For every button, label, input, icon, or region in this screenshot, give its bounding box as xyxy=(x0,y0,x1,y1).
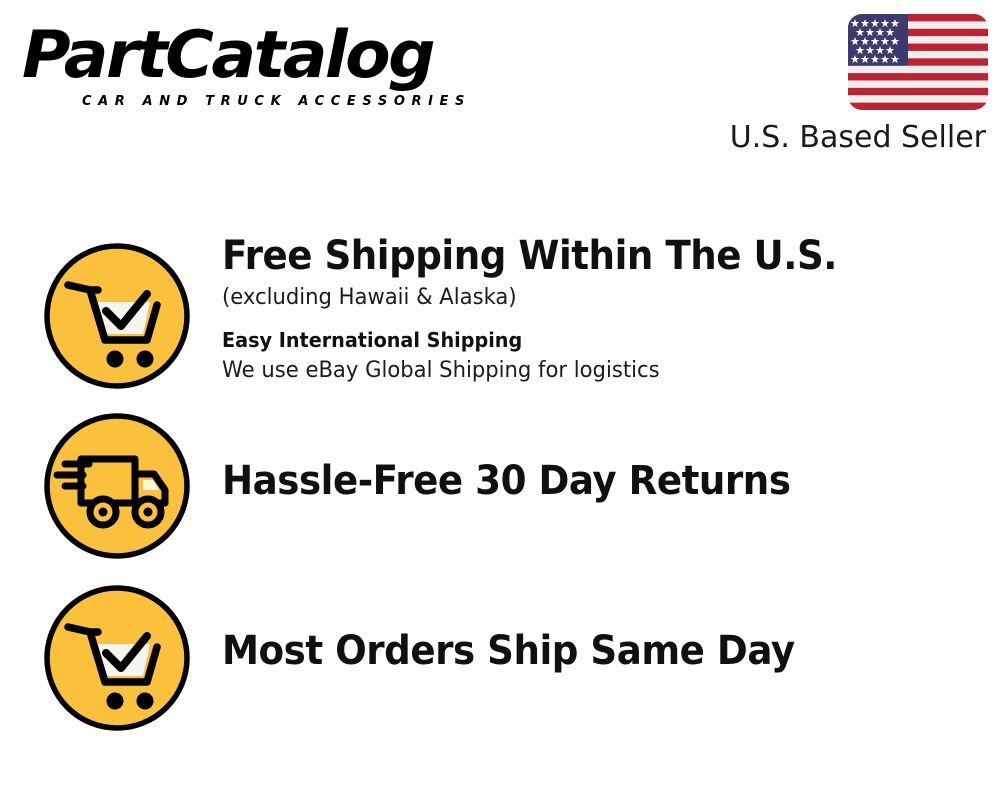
us-based-seller-label: U.S. Based Seller xyxy=(712,121,992,155)
feature-headline: Free Shipping Within The U.S. xyxy=(222,233,929,279)
feature-row: Free Shipping Within The U.S. (excluding… xyxy=(0,228,1000,403)
feature-text-block: Free Shipping Within The U.S. (excluding… xyxy=(222,233,982,386)
us-flag-icon xyxy=(844,8,992,114)
delivery-truck-icon xyxy=(43,412,191,560)
shopping-cart-check-icon xyxy=(43,584,191,732)
feature-note: (excluding Hawaii & Alaska) xyxy=(222,283,952,313)
shopping-cart-check-icon xyxy=(43,242,191,390)
feature-headline: Hassle-Free 30 Day Returns xyxy=(222,458,929,504)
feature-text-block: Hassle-Free 30 Day Returns xyxy=(222,458,982,504)
seller-info-banner: PartCatalog CAR AND TRUCK ACCESSORIES xyxy=(0,0,1000,800)
brand-wordmark: PartCatalog xyxy=(22,22,501,90)
feature-row: Most Orders Ship Same Day xyxy=(0,570,1000,742)
feature-sub-heading: Easy International Shipping xyxy=(222,325,952,355)
feature-headline: Most Orders Ship Same Day xyxy=(222,628,929,674)
us-based-seller-block: U.S. Based Seller xyxy=(712,8,992,155)
feature-sub-text: We use eBay Global Shipping for logistic… xyxy=(222,356,952,386)
brand-logo: PartCatalog CAR AND TRUCK ACCESSORIES xyxy=(22,22,492,114)
brand-underline-swoosh xyxy=(30,110,490,113)
brand-tagline: CAR AND TRUCK ACCESSORIES xyxy=(82,94,471,109)
feature-text-block: Most Orders Ship Same Day xyxy=(222,628,982,674)
feature-row: Hassle-Free 30 Day Returns xyxy=(0,398,1000,570)
